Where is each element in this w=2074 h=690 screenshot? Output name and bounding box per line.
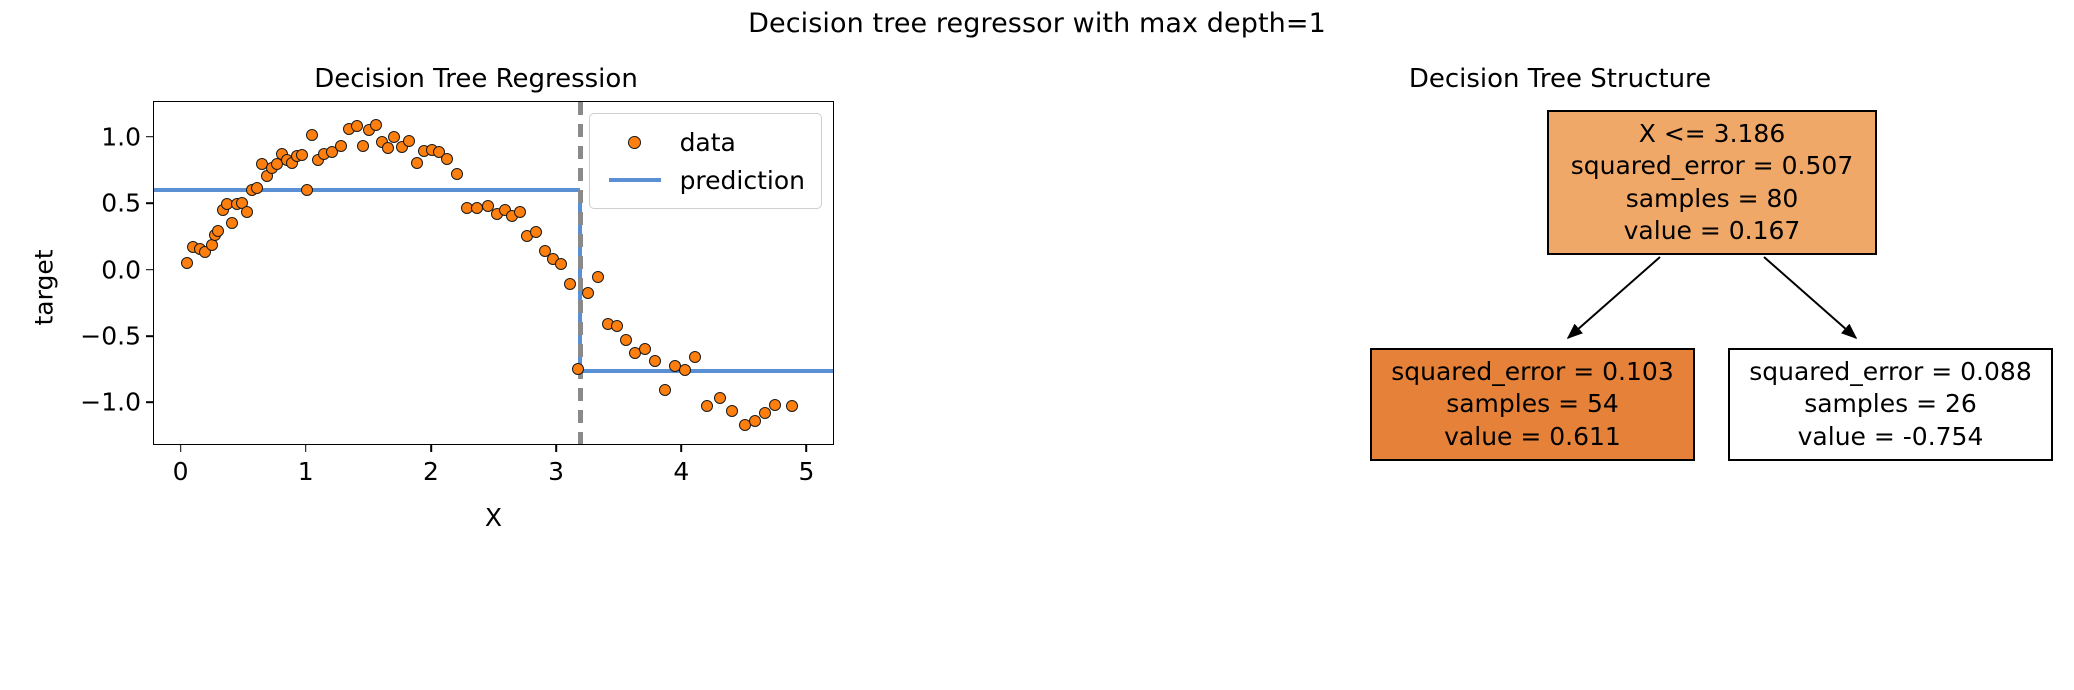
scatter-point bbox=[649, 355, 661, 367]
y-tick-mark bbox=[146, 402, 153, 404]
x-tick-label: 3 bbox=[548, 457, 564, 486]
legend-label-prediction: prediction bbox=[668, 166, 805, 195]
regression-plot-panel: Decision Tree Regression target X data p… bbox=[0, 48, 1040, 688]
scatter-point bbox=[592, 271, 604, 283]
tree-structure-panel: Decision Tree Structure X <= 3.186square… bbox=[1040, 48, 2074, 688]
scatter-point bbox=[611, 320, 623, 332]
scatter-point bbox=[181, 257, 193, 269]
scatter-point bbox=[659, 384, 671, 396]
figure-suptitle: Decision tree regressor with max depth=1 bbox=[0, 8, 2074, 39]
legend-entry-data: data bbox=[602, 123, 805, 161]
y-tick-label: −0.5 bbox=[41, 322, 141, 351]
x-tick-mark bbox=[555, 445, 557, 452]
tree-node-line: samples = 26 bbox=[1804, 388, 1977, 421]
scatter-point bbox=[451, 168, 463, 180]
x-tick-label: 1 bbox=[298, 457, 314, 486]
x-tick-mark bbox=[430, 445, 432, 452]
figure-canvas: Decision tree regressor with max depth=1… bbox=[0, 0, 2074, 690]
right-subplot-title: Decision Tree Structure bbox=[1170, 64, 1950, 94]
scatter-point bbox=[471, 202, 483, 214]
scatter-point bbox=[226, 217, 238, 229]
x-tick-mark bbox=[680, 445, 682, 452]
y-tick-mark bbox=[146, 202, 153, 204]
tree-node-line: value = 0.167 bbox=[1624, 215, 1801, 248]
tree-node-line: value = 0.611 bbox=[1444, 421, 1621, 454]
scatter-point bbox=[251, 182, 263, 194]
scatter-point bbox=[679, 364, 691, 376]
scatter-point bbox=[582, 287, 594, 299]
legend-entry-prediction: prediction bbox=[602, 161, 805, 199]
scatter-point bbox=[335, 140, 347, 152]
scatter-point bbox=[701, 400, 713, 412]
legend-marker-line-icon bbox=[602, 178, 668, 182]
x-tick-label: 4 bbox=[673, 457, 689, 486]
scatter-point bbox=[370, 119, 382, 131]
scatter-point bbox=[301, 184, 313, 196]
x-tick-label: 5 bbox=[799, 457, 815, 486]
scatter-point bbox=[786, 400, 798, 412]
tree-node-root[interactable]: X <= 3.186squared_error = 0.507samples =… bbox=[1547, 110, 1877, 255]
scatter-point bbox=[411, 157, 423, 169]
tree-node-left-leaf[interactable]: squared_error = 0.103samples = 54value =… bbox=[1370, 348, 1695, 461]
prediction-segment bbox=[580, 369, 834, 373]
left-subplot-title: Decision Tree Regression bbox=[118, 64, 834, 94]
tree-node-line: X <= 3.186 bbox=[1639, 118, 1785, 151]
prediction-segment bbox=[154, 188, 580, 192]
legend-marker-dot-icon bbox=[602, 136, 668, 149]
scatter-point bbox=[212, 225, 224, 237]
y-tick-label: −1.0 bbox=[41, 388, 141, 417]
scatter-point bbox=[441, 153, 453, 165]
y-tick-mark bbox=[146, 136, 153, 138]
scatter-point bbox=[620, 334, 632, 346]
y-tick-mark bbox=[146, 269, 153, 271]
tree-node-line: value = -0.754 bbox=[1798, 421, 1984, 454]
x-tick-label: 2 bbox=[423, 457, 439, 486]
scatter-point bbox=[306, 129, 318, 141]
plot-axes-area: data prediction bbox=[153, 101, 834, 445]
scatter-point bbox=[726, 405, 738, 417]
scatter-point bbox=[514, 206, 526, 218]
scatter-point bbox=[749, 415, 761, 427]
split-threshold-line bbox=[578, 102, 583, 444]
scatter-point bbox=[769, 399, 781, 411]
y-tick-mark bbox=[146, 335, 153, 337]
x-tick-mark bbox=[305, 445, 307, 452]
scatter-point bbox=[206, 239, 218, 251]
y-tick-label: 1.0 bbox=[41, 122, 141, 151]
y-tick-label: 0.0 bbox=[41, 255, 141, 284]
tree-node-line: squared_error = 0.507 bbox=[1571, 150, 1853, 183]
scatter-point bbox=[351, 120, 363, 132]
tree-node-line: squared_error = 0.088 bbox=[1749, 356, 2031, 389]
x-tick-mark bbox=[180, 445, 182, 452]
x-tick-mark bbox=[806, 445, 808, 452]
scatter-point bbox=[530, 226, 542, 238]
tree-node-line: samples = 80 bbox=[1626, 183, 1799, 216]
scatter-point bbox=[382, 142, 394, 154]
scatter-point bbox=[564, 278, 576, 290]
scatter-point bbox=[555, 258, 567, 270]
plot-legend[interactable]: data prediction bbox=[589, 113, 822, 209]
tree-node-line: squared_error = 0.103 bbox=[1391, 356, 1673, 389]
scatter-point bbox=[296, 149, 308, 161]
scatter-point bbox=[357, 140, 369, 152]
scatter-point bbox=[403, 135, 415, 147]
x-tick-label: 0 bbox=[173, 457, 189, 486]
legend-label-data: data bbox=[668, 128, 736, 157]
scatter-point bbox=[241, 206, 253, 218]
scatter-point bbox=[639, 343, 651, 355]
scatter-point bbox=[714, 392, 726, 404]
scatter-point bbox=[759, 407, 771, 419]
tree-node-line: samples = 54 bbox=[1446, 388, 1619, 421]
x-axis-label: X bbox=[153, 503, 834, 532]
scatter-point bbox=[689, 351, 701, 363]
tree-node-right-leaf[interactable]: squared_error = 0.088samples = 26value =… bbox=[1728, 348, 2053, 461]
y-tick-label: 0.5 bbox=[41, 189, 141, 218]
